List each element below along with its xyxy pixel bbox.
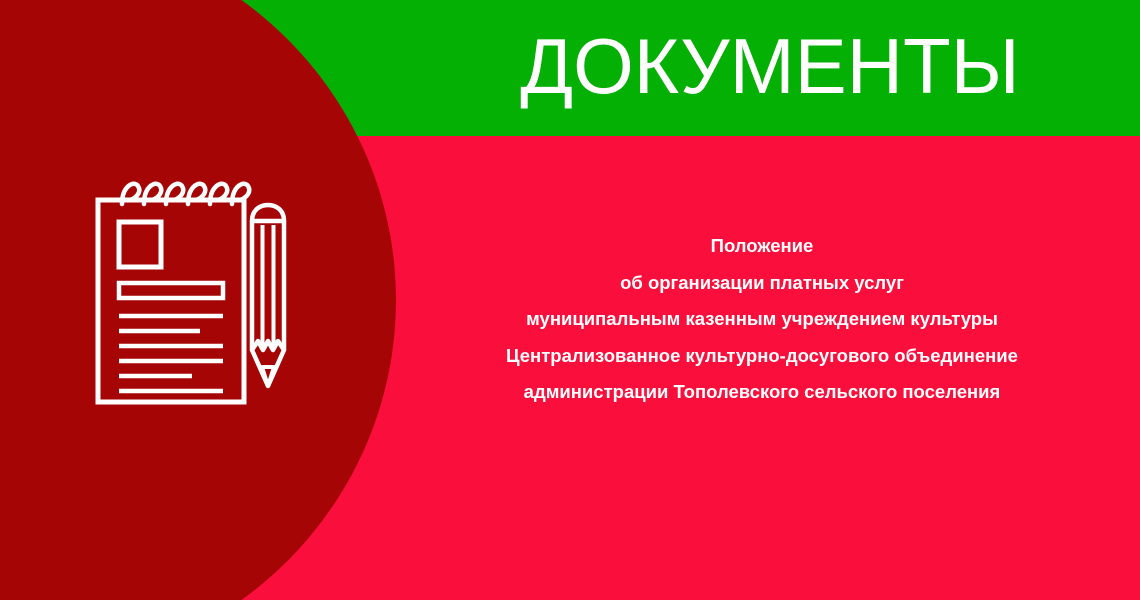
document-title-line-2: об организации платных услуг (402, 265, 1122, 302)
document-title-line-4: Централизованное культурно-досугового об… (402, 338, 1122, 375)
text-lines-icon (119, 316, 223, 391)
pencil-icon (252, 205, 284, 386)
documents-banner: ДОКУМЕНТЫ (0, 0, 1140, 600)
heading-bar-icon (119, 283, 223, 298)
page-title: ДОКУМЕНТЫ (400, 0, 1140, 136)
notepad-with-pencil-icon (80, 168, 310, 408)
document-title-line-1: Положение (402, 228, 1122, 265)
document-title-line-3: муниципальным казенным учреждением культ… (402, 301, 1122, 338)
thumbnail-square-icon (119, 222, 161, 267)
notepad-with-pencil-glyph (80, 168, 310, 408)
document-title-line-5: администрации Тополевского сельского пос… (402, 374, 1122, 411)
document-title-block: Положение об организации платных услуг м… (402, 228, 1122, 411)
